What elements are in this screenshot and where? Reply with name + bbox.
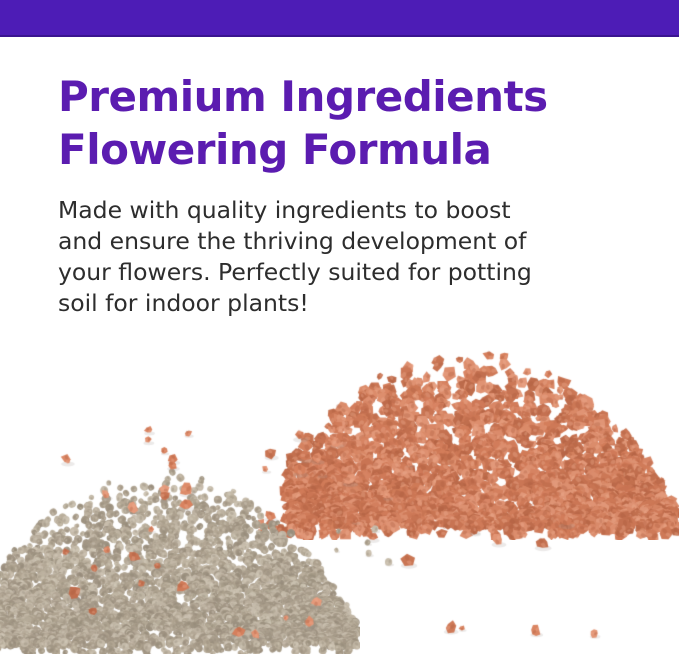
page-title: Premium Ingredients Flowering Formula (58, 70, 558, 176)
text-content-block: Premium Ingredients Flowering Formula Ma… (58, 70, 558, 319)
product-photo-area (0, 330, 679, 654)
promotional-banner-page: Premium Ingredients Flowering Formula Ma… (0, 0, 679, 654)
grey-pellet-pile (0, 458, 360, 654)
top-bar-bottom-edge (0, 35, 679, 37)
description-paragraph: Made with quality ingredients to boost a… (58, 176, 558, 319)
top-purple-banner-bar (0, 0, 679, 35)
